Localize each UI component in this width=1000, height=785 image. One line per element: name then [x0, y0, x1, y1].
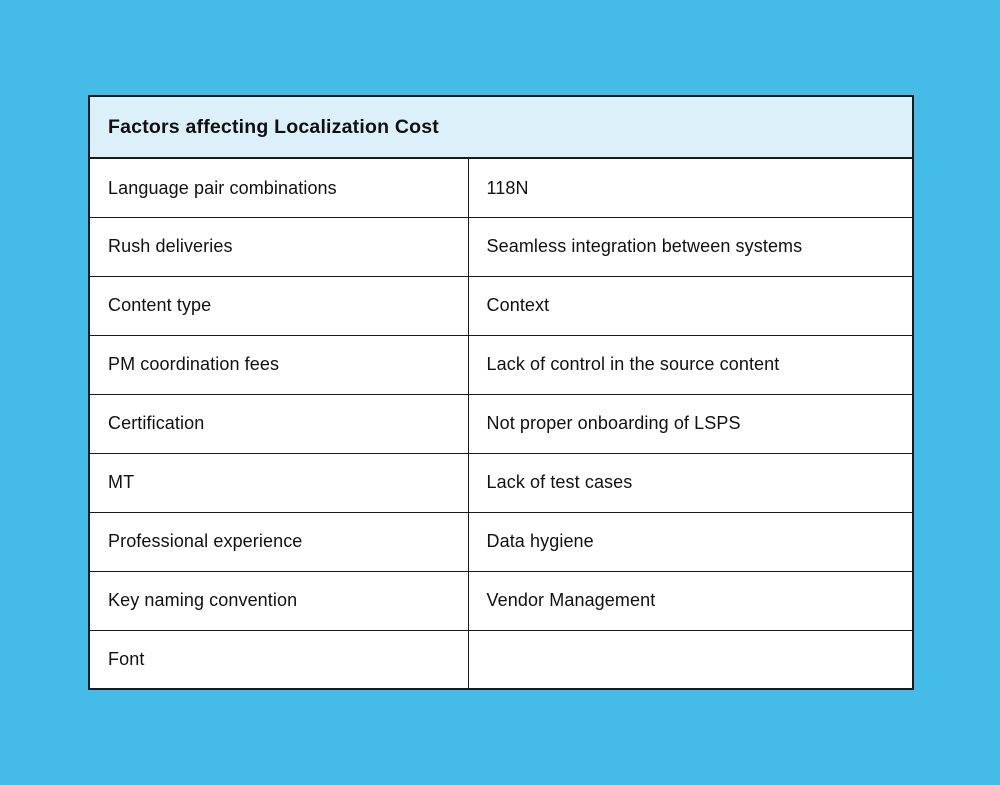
table-row: MT Lack of test cases — [89, 453, 913, 512]
table-body: Language pair combinations 118N Rush del… — [89, 158, 913, 689]
table-cell-factor: 118N — [468, 158, 913, 217]
table-cell-factor: MT — [89, 453, 468, 512]
table-cell-factor: Lack of test cases — [468, 453, 913, 512]
table-row: Content type Context — [89, 276, 913, 335]
table-cell-factor: Lack of control in the source content — [468, 335, 913, 394]
table-cell-factor: Data hygiene — [468, 512, 913, 571]
table-cell-factor: Vendor Management — [468, 571, 913, 630]
table-cell-factor: Certification — [89, 394, 468, 453]
table-cell-factor: Content type — [89, 276, 468, 335]
table-row: Font — [89, 630, 913, 689]
table-row: PM coordination fees Lack of control in … — [89, 335, 913, 394]
table-cell-factor: Language pair combinations — [89, 158, 468, 217]
table-cell-factor: Font — [89, 630, 468, 689]
table-header: Factors affecting Localization Cost — [89, 96, 913, 158]
table-cell-factor: Rush deliveries — [89, 217, 468, 276]
table-title-row: Factors affecting Localization Cost — [89, 96, 913, 158]
table-cell-factor: Context — [468, 276, 913, 335]
table-cell-factor: Not proper onboarding of LSPS — [468, 394, 913, 453]
table-row: Professional experience Data hygiene — [89, 512, 913, 571]
table-cell-factor: Key naming convention — [89, 571, 468, 630]
table-row: Rush deliveries Seamless integration bet… — [89, 217, 913, 276]
factors-affecting-localization-cost-table: Factors affecting Localization Cost Lang… — [88, 95, 914, 690]
table-cell-factor: Seamless integration between systems — [468, 217, 913, 276]
factors-table-container: Factors affecting Localization Cost Lang… — [88, 95, 912, 690]
table-title: Factors affecting Localization Cost — [89, 96, 913, 158]
table-row: Language pair combinations 118N — [89, 158, 913, 217]
page-root: Factors affecting Localization Cost Lang… — [0, 0, 1000, 785]
table-cell-empty — [468, 630, 913, 689]
table-cell-factor: Professional experience — [89, 512, 468, 571]
table-cell-factor: PM coordination fees — [89, 335, 468, 394]
table-row: Certification Not proper onboarding of L… — [89, 394, 913, 453]
table-row: Key naming convention Vendor Management — [89, 571, 913, 630]
